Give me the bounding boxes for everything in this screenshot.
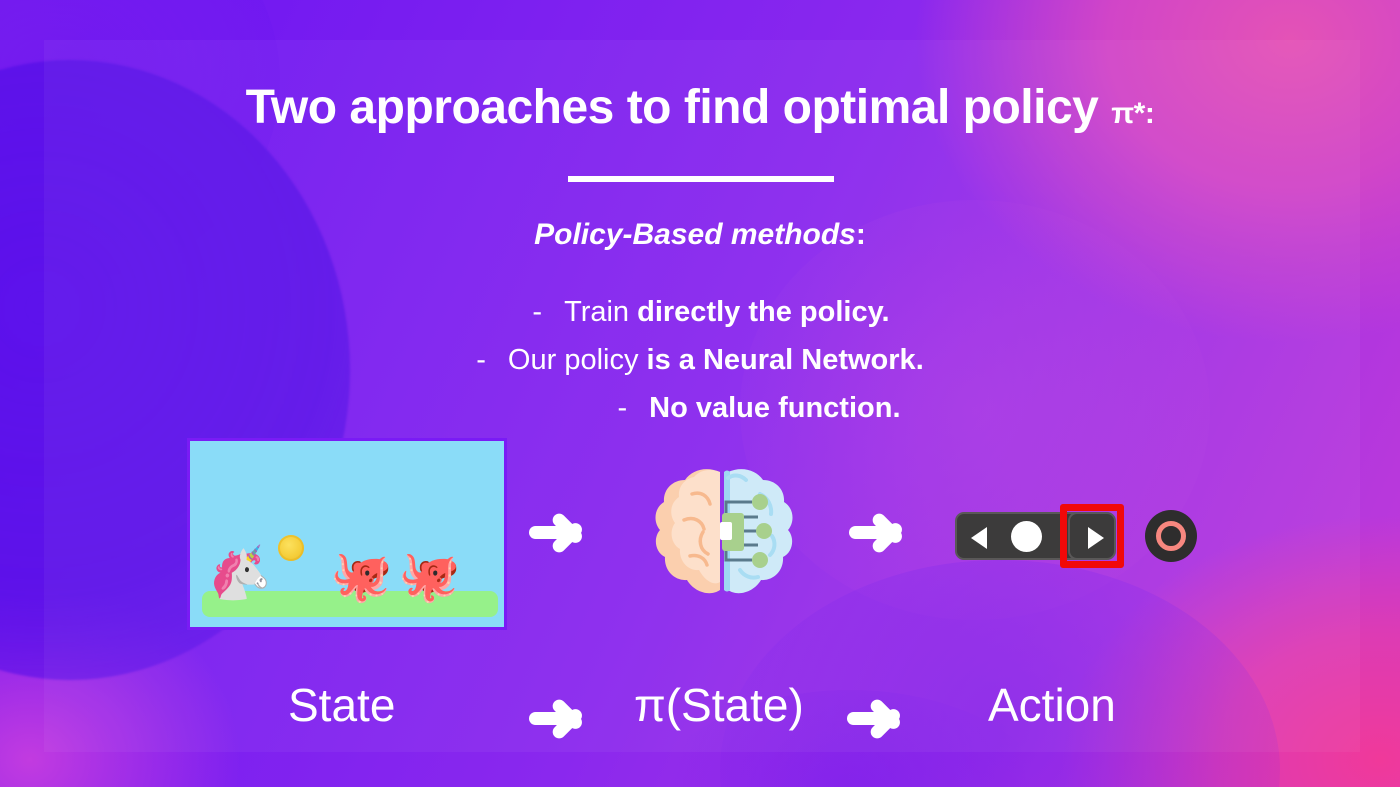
diagram-labels: State π(State) Action (0, 678, 1400, 758)
slide-content: Two approaches to find optimal policy π*… (0, 0, 1400, 787)
joystick-knob-icon[interactable] (1011, 521, 1042, 552)
subtitle: Policy-Based methods: (0, 218, 1400, 252)
arrow-right-icon (527, 504, 599, 560)
brain-ai-icon (648, 458, 800, 610)
bullet-bold-text: No value function. (649, 392, 900, 424)
label-action: Action (988, 678, 1116, 732)
bullet-dash: - (476, 336, 486, 384)
octopus-icon: 🐙 (398, 551, 460, 601)
arrow-right-icon (845, 690, 917, 746)
bullet-bold-text: directly the policy. (637, 296, 889, 328)
list-item: -Our policy is a Neural Network. (0, 336, 1400, 384)
bullet-dash: - (617, 384, 627, 432)
bullet-plain-text: Train (564, 296, 637, 328)
action-button-ring-icon (1156, 521, 1186, 551)
unicorn-icon: 🦄 (208, 547, 273, 599)
selected-action-highlight (1060, 504, 1124, 568)
label-state: State (288, 678, 395, 732)
title-divider (568, 176, 834, 182)
arrow-right-icon (527, 690, 599, 746)
policy-diagram: 🦄 🐙 🐙 (0, 438, 1400, 638)
bullet-plain-text: Our policy (508, 344, 647, 376)
list-item: -Train directly the policy. (0, 288, 1400, 336)
action-button[interactable] (1145, 510, 1197, 562)
bullet-dash: - (532, 288, 542, 336)
subtitle-text: Policy-Based methods (534, 218, 856, 251)
optimal-policy-symbol: π*: (1111, 97, 1154, 130)
page-title-text: Two approaches to find optimal policy (246, 81, 1112, 134)
page-title: Two approaches to find optimal policy π*… (0, 80, 1400, 135)
label-policy: π(State) (634, 678, 804, 732)
left-arrow-icon[interactable] (971, 527, 987, 549)
coin-icon (278, 535, 304, 561)
list-item: -No value function. (0, 384, 1400, 432)
game-screenshot: 🦄 🐙 🐙 (187, 438, 507, 630)
bullet-list: -Train directly the policy. -Our policy … (0, 288, 1400, 432)
arrow-right-icon (847, 504, 919, 560)
subtitle-colon: : (856, 218, 866, 251)
game-controller-controls (955, 500, 1205, 576)
bullet-bold-text: is a Neural Network. (647, 344, 924, 376)
octopus-icon: 🐙 (330, 551, 392, 601)
